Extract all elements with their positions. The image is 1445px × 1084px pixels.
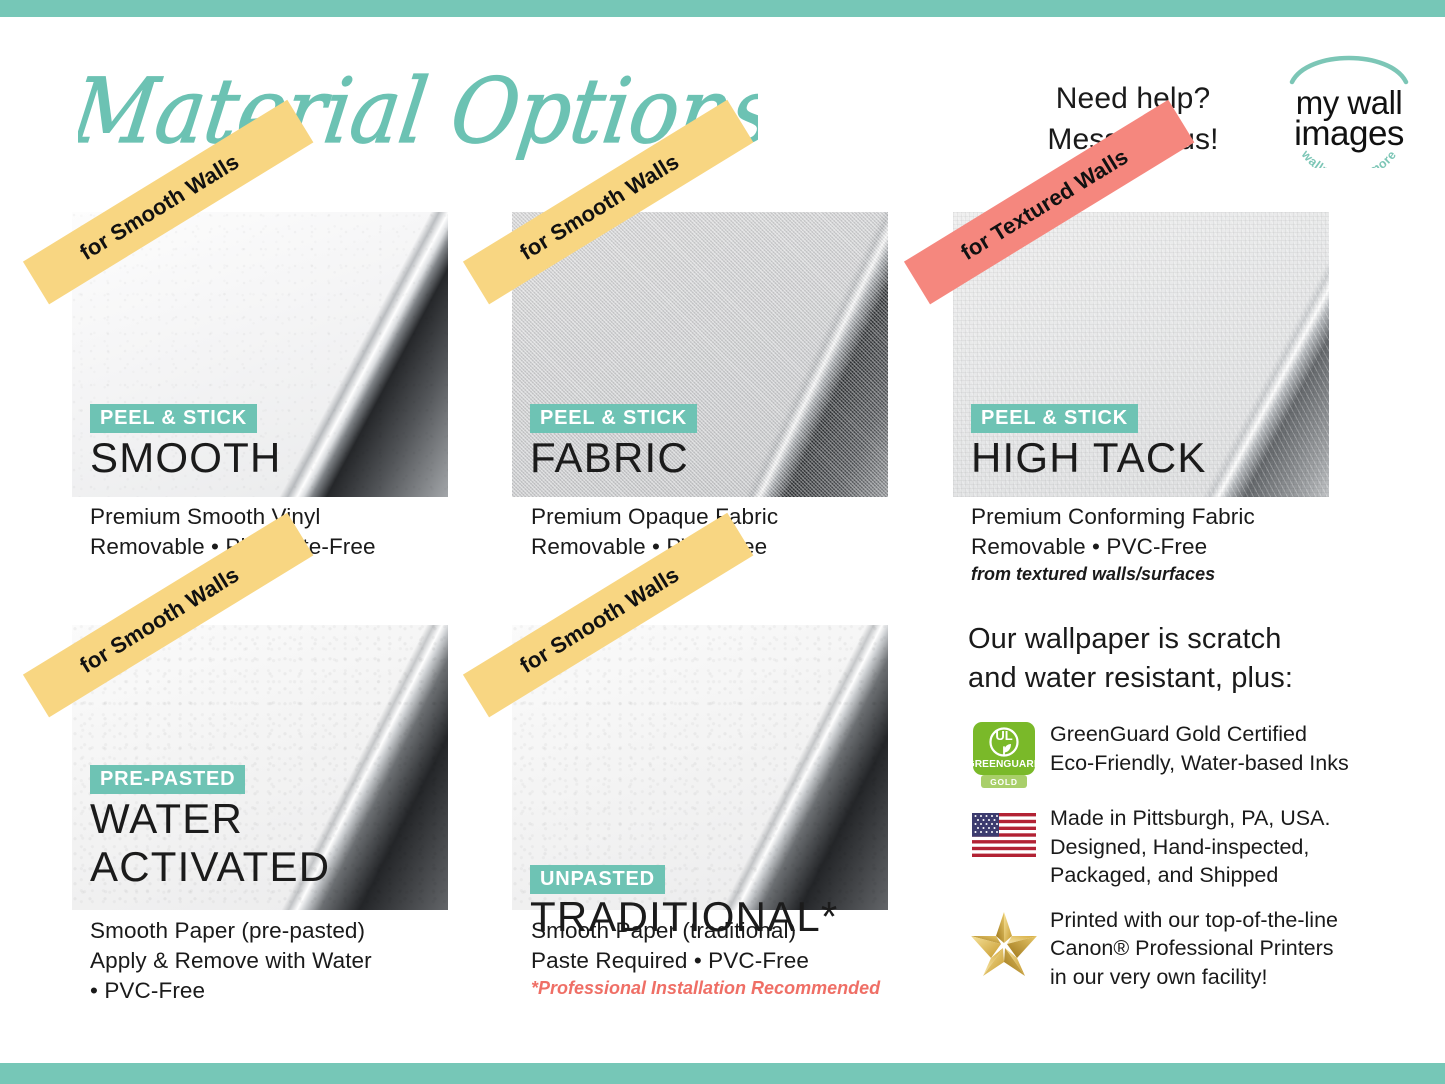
material-name: TRADITIONAL* xyxy=(530,893,838,941)
benefit-line-1: Printed with our top-of-the-line xyxy=(1050,906,1398,935)
material-card-fabric[interactable]: for Smooth Walls PEEL & STICK FABRIC xyxy=(512,212,888,497)
benefit-line-2: Canon® Professional Printers xyxy=(1050,934,1398,963)
material-name: HIGH TACK xyxy=(971,434,1207,482)
material-description-high-tack: Premium Conforming Fabric Removable • PV… xyxy=(971,502,1401,586)
material-card-high-tack[interactable]: for Textured Walls PEEL & STICK HIGH TAC… xyxy=(953,212,1329,497)
gold-star-icon xyxy=(969,910,1039,978)
benefit-line-3: Packaged, and Shipped xyxy=(1050,861,1398,890)
desc-line-2: Apply & Remove with Water xyxy=(90,946,520,976)
usa-flag-icon xyxy=(972,813,1036,857)
material-name: SMOOTH xyxy=(90,434,282,482)
benefit-line-2: Eco-Friendly, Water-based Inks xyxy=(1050,749,1398,778)
benefit-item-made-in-usa: Made in Pittsburgh, PA, USA. Designed, H… xyxy=(968,804,1398,890)
material-name: WATER ACTIVATED xyxy=(90,795,330,891)
adhesion-badge: PEEL & STICK xyxy=(530,404,697,433)
bottom-accent-bar xyxy=(0,1063,1445,1084)
benefit-line-2: Designed, Hand-inspected, xyxy=(1050,833,1398,862)
benefit-item-canon-printers: Printed with our top-of-the-line Canon® … xyxy=(968,906,1398,992)
benefit-text-block: Printed with our top-of-the-line Canon® … xyxy=(1040,906,1398,992)
material-name: FABRIC xyxy=(530,434,689,482)
greenguard-ul-text: UL xyxy=(995,728,1012,743)
benefit-text-block: GreenGuard Gold Certified Eco-Friendly, … xyxy=(1040,720,1398,777)
benefit-item-greenguard: UL GREENGUARD GOLD GreenGuard Gold Certi… xyxy=(968,720,1398,788)
logo-arc-icon xyxy=(1292,58,1406,82)
brand-logo[interactable]: my wall images wallpaper + more xyxy=(1278,42,1420,168)
adhesion-badge: UNPASTED xyxy=(530,865,665,894)
desc-line-3: • PVC-Free xyxy=(90,976,520,1006)
material-name-line2: ACTIVATED xyxy=(90,843,330,890)
desc-line-1: Smooth Paper (pre-pasted) xyxy=(90,916,520,946)
material-card-water-activated[interactable]: for Smooth Walls PRE-PASTED WATER ACTIVA… xyxy=(72,625,448,910)
benefit-line-1: GreenGuard Gold Certified xyxy=(1050,720,1398,749)
desc-line-1: Premium Opaque Fabric xyxy=(531,502,961,532)
adhesion-badge: PEEL & STICK xyxy=(971,404,1138,433)
benefit-line-3: in our very own facility! xyxy=(1050,963,1398,992)
material-card-smooth[interactable]: for Smooth Walls PEEL & STICK SMOOTH xyxy=(72,212,448,497)
benefits-panel: Our wallpaper is scratch and water resis… xyxy=(968,620,1398,1007)
greenguard-brand-text: GREENGUARD xyxy=(973,759,1035,770)
material-name-line1: WATER xyxy=(90,795,243,842)
benefits-heading: Our wallpaper is scratch and water resis… xyxy=(968,620,1398,698)
benefits-heading-line1: Our wallpaper is scratch xyxy=(968,620,1398,659)
top-accent-bar xyxy=(0,0,1445,17)
benefit-icon-slot xyxy=(968,906,1040,978)
desc-line-1: Premium Conforming Fabric xyxy=(971,502,1401,532)
desc-note: *Professional Installation Recommended xyxy=(531,976,961,1000)
benefit-text-block: Made in Pittsburgh, PA, USA. Designed, H… xyxy=(1040,804,1398,890)
benefit-line-1: Made in Pittsburgh, PA, USA. xyxy=(1050,804,1398,833)
benefit-icon-slot xyxy=(968,804,1040,857)
material-options-page: Material Options Need help? Message us! … xyxy=(0,0,1445,1084)
benefit-icon-slot: UL GREENGUARD GOLD xyxy=(968,720,1040,788)
material-description-water-activated: Smooth Paper (pre-pasted) Apply & Remove… xyxy=(90,916,520,1006)
adhesion-badge: PRE-PASTED xyxy=(90,765,245,794)
desc-line-1: Premium Smooth Vinyl xyxy=(90,502,520,532)
material-card-traditional[interactable]: for Smooth Walls UNPASTED TRADITIONAL* xyxy=(512,625,888,910)
need-help-line1: Need help? xyxy=(1018,78,1248,119)
desc-line-2: Paste Required • PVC-Free xyxy=(531,946,961,976)
greenguard-gold-icon: UL GREENGUARD GOLD xyxy=(973,722,1035,788)
greenguard-gold-text: GOLD xyxy=(990,777,1018,787)
desc-note: from textured walls/surfaces xyxy=(971,562,1401,586)
benefits-heading-line2: and water resistant, plus: xyxy=(968,659,1398,698)
adhesion-badge: PEEL & STICK xyxy=(90,404,257,433)
logo-line2: images xyxy=(1294,114,1404,153)
desc-line-2: Removable • PVC-Free xyxy=(971,532,1401,562)
